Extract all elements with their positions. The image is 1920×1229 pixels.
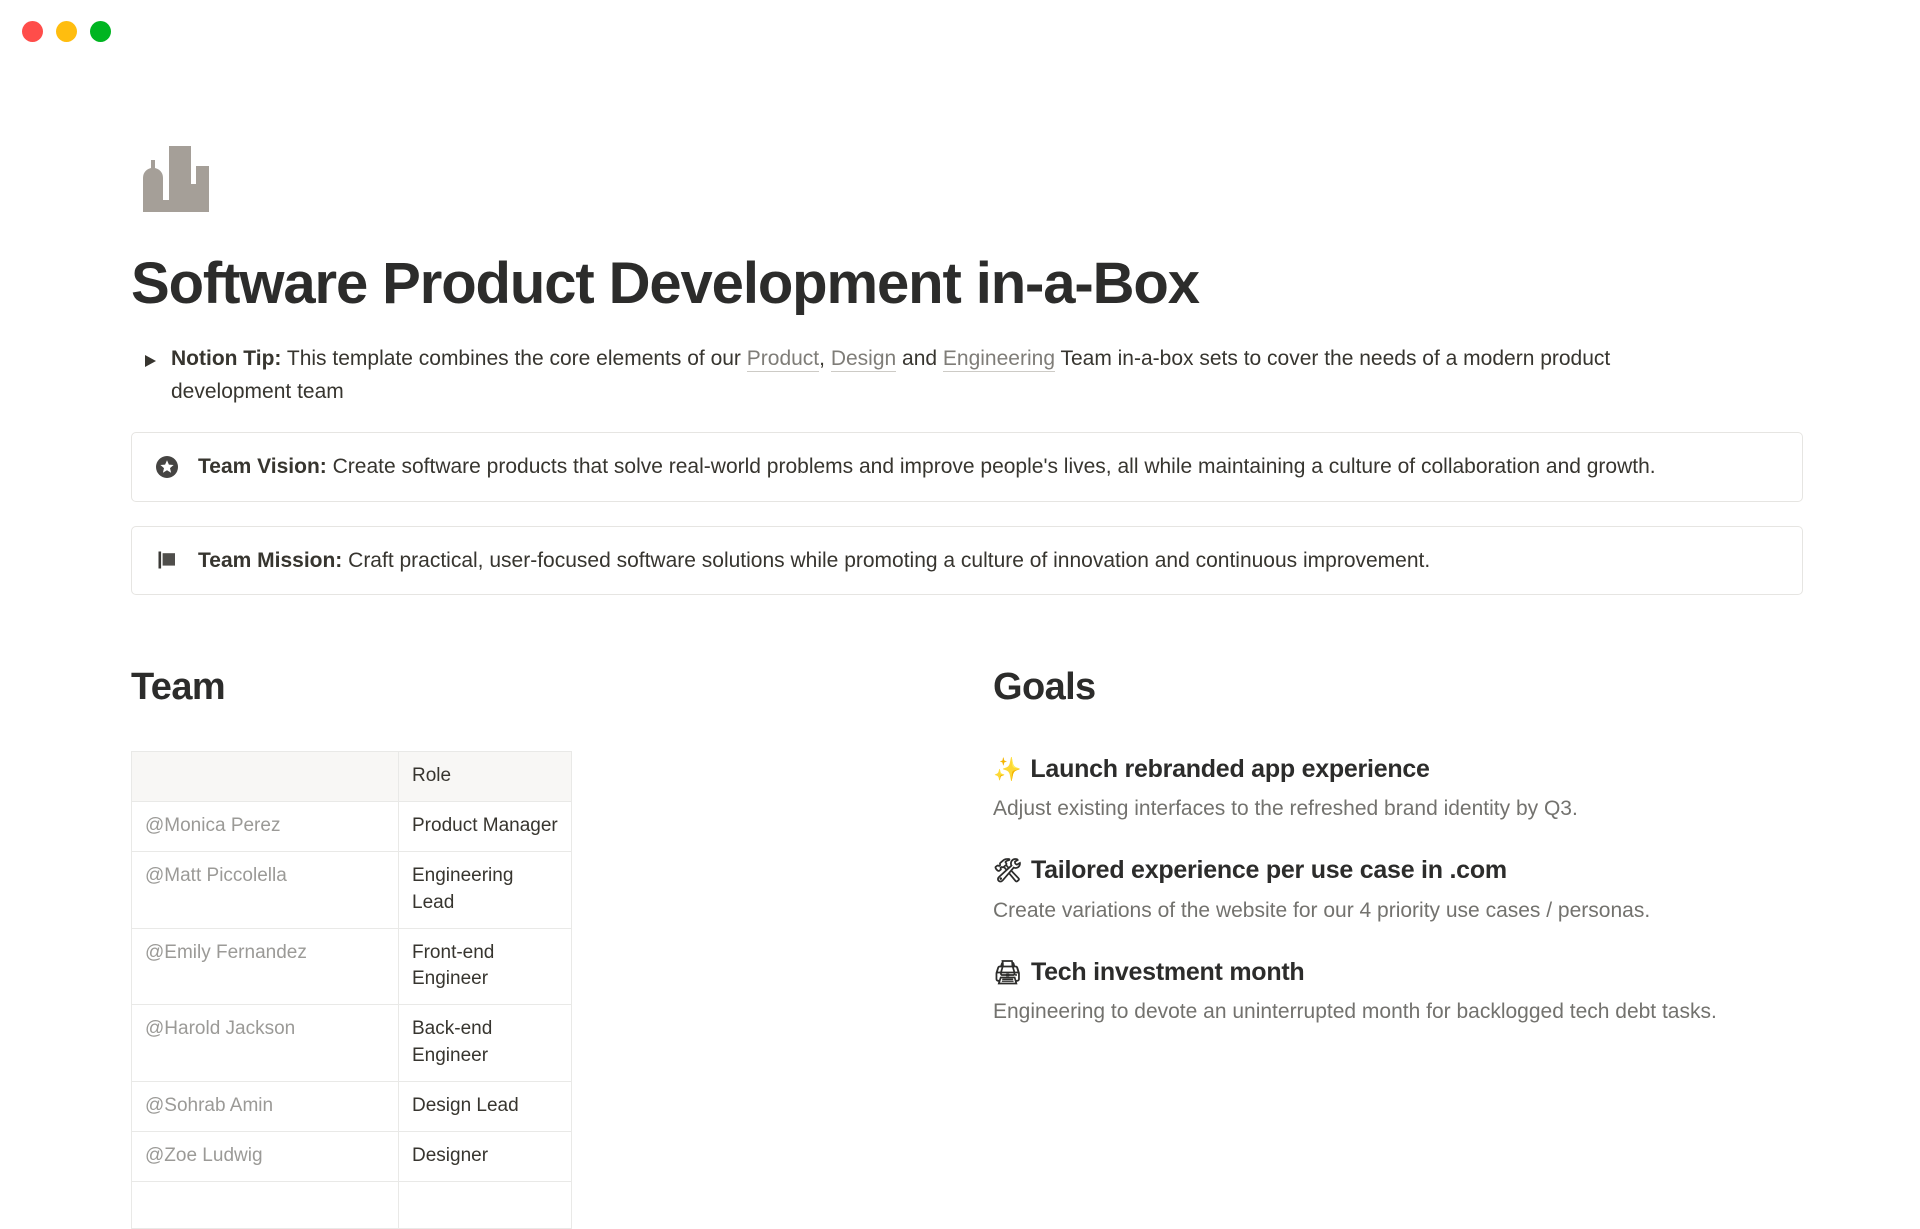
cell-person-role[interactable]: Design Lead: [399, 1082, 572, 1132]
goal-title-row: 🛠 Tailored experience per use case in .c…: [993, 852, 1803, 888]
page-content: Software Product Development in-a-Box No…: [131, 134, 1811, 1229]
zoom-window-button[interactable]: [90, 21, 111, 42]
notion-tip-text: Notion Tip: This template combines the c…: [171, 343, 1691, 408]
goals-heading: Goals: [993, 665, 1803, 711]
tip-separator-2: and: [896, 347, 943, 370]
notion-tip-toggle[interactable]: Notion Tip: This template combines the c…: [131, 343, 1691, 408]
cell-person-role[interactable]: Designer: [399, 1132, 572, 1182]
cell-person-name[interactable]: @Monica Perez: [132, 801, 399, 851]
callout-team-vision[interactable]: Team Vision: Create software products th…: [131, 432, 1803, 502]
table-row[interactable]: [132, 1182, 572, 1229]
flag-icon: [154, 547, 180, 573]
cell-person-role[interactable]: Back-end Engineer: [399, 1005, 572, 1082]
cell-person-name[interactable]: @Matt Piccolella: [132, 851, 399, 928]
cell-person-role[interactable]: Front-end Engineer: [399, 928, 572, 1005]
callout-team-mission[interactable]: Team Mission: Craft practical, user-focu…: [131, 526, 1803, 596]
cell-person-role[interactable]: [399, 1182, 572, 1229]
callout-team-mission-body: Craft practical, user-focused software s…: [342, 549, 1430, 572]
cityscape-icon[interactable]: [131, 134, 209, 212]
table-row[interactable]: @Sohrab Amin Design Lead: [132, 1082, 572, 1132]
goal-title: Tailored experience per use case in .com: [1031, 852, 1507, 888]
two-column-section: Team Role @Monica Perez Product Manager: [131, 665, 1811, 1229]
notion-tip-label: Notion Tip:: [171, 347, 281, 370]
window-titlebar: [0, 0, 1920, 62]
notion-tip-text-before: This template combines the core elements…: [281, 347, 746, 370]
team-table-body: @Monica Perez Product Manager @Matt Picc…: [132, 801, 572, 1229]
tip-separator-1: ,: [819, 347, 831, 370]
callout-team-vision-body: Create software products that solve real…: [327, 455, 1656, 478]
table-row[interactable]: @Zoe Ludwig Designer: [132, 1132, 572, 1182]
link-design[interactable]: Design: [831, 347, 896, 372]
goal-description: Adjust existing interfaces to the refres…: [993, 793, 1803, 825]
triangle-right-icon[interactable]: [139, 354, 161, 368]
callout-team-vision-label: Team Vision:: [198, 455, 327, 478]
cell-person-name[interactable]: @Harold Jackson: [132, 1005, 399, 1082]
table-header-row: Role: [132, 751, 572, 801]
cell-person-name[interactable]: @Zoe Ludwig: [132, 1132, 399, 1182]
page-title: Software Product Development in-a-Box: [131, 252, 1811, 317]
callout-team-mission-text: Team Mission: Craft practical, user-focu…: [198, 545, 1430, 577]
goals-column: Goals ✨ Launch rebranded app experience …: [993, 665, 1803, 1229]
hammer-and-wrench-icon: 🛠: [993, 854, 1022, 887]
table-header-role[interactable]: Role: [399, 751, 572, 801]
goal-description: Engineering to devote an uninterrupted m…: [993, 996, 1803, 1028]
close-window-button[interactable]: [22, 21, 43, 42]
goal-item[interactable]: 🖨 Tech investment month Engineering to d…: [993, 954, 1803, 1028]
goal-description: Create variations of the website for our…: [993, 895, 1803, 927]
goal-title-row: 🖨 Tech investment month: [993, 954, 1803, 990]
document-page: Software Product Development in-a-Box No…: [0, 62, 1920, 1200]
cell-person-role[interactable]: Product Manager: [399, 801, 572, 851]
callout-team-vision-text: Team Vision: Create software products th…: [198, 451, 1656, 483]
table-row[interactable]: @Monica Perez Product Manager: [132, 801, 572, 851]
cell-person-name[interactable]: @Sohrab Amin: [132, 1082, 399, 1132]
goal-title: Launch rebranded app experience: [1030, 751, 1429, 787]
printer-icon: 🖨: [993, 956, 1022, 989]
star-circle-icon: [154, 454, 180, 480]
team-table[interactable]: Role @Monica Perez Product Manager @Matt…: [131, 751, 572, 1229]
cell-person-role[interactable]: Engineering Lead: [399, 851, 572, 928]
link-product[interactable]: Product: [747, 347, 819, 372]
goal-item[interactable]: 🛠 Tailored experience per use case in .c…: [993, 852, 1803, 926]
table-header-name[interactable]: [132, 751, 399, 801]
cell-person-name[interactable]: [132, 1182, 399, 1229]
sparkles-icon: ✨: [993, 753, 1021, 786]
link-engineering[interactable]: Engineering: [943, 347, 1055, 372]
minimize-window-button[interactable]: [56, 21, 77, 42]
goal-item[interactable]: ✨ Launch rebranded app experience Adjust…: [993, 751, 1803, 825]
table-row[interactable]: @Emily Fernandez Front-end Engineer: [132, 928, 572, 1005]
goal-title-row: ✨ Launch rebranded app experience: [993, 751, 1803, 787]
team-column: Team Role @Monica Perez Product Manager: [131, 665, 993, 1229]
table-row[interactable]: @Harold Jackson Back-end Engineer: [132, 1005, 572, 1082]
callout-team-mission-label: Team Mission:: [198, 549, 342, 572]
team-heading: Team: [131, 665, 993, 711]
cell-person-name[interactable]: @Emily Fernandez: [132, 928, 399, 1005]
table-row[interactable]: @Matt Piccolella Engineering Lead: [132, 851, 572, 928]
goal-title: Tech investment month: [1031, 954, 1305, 990]
